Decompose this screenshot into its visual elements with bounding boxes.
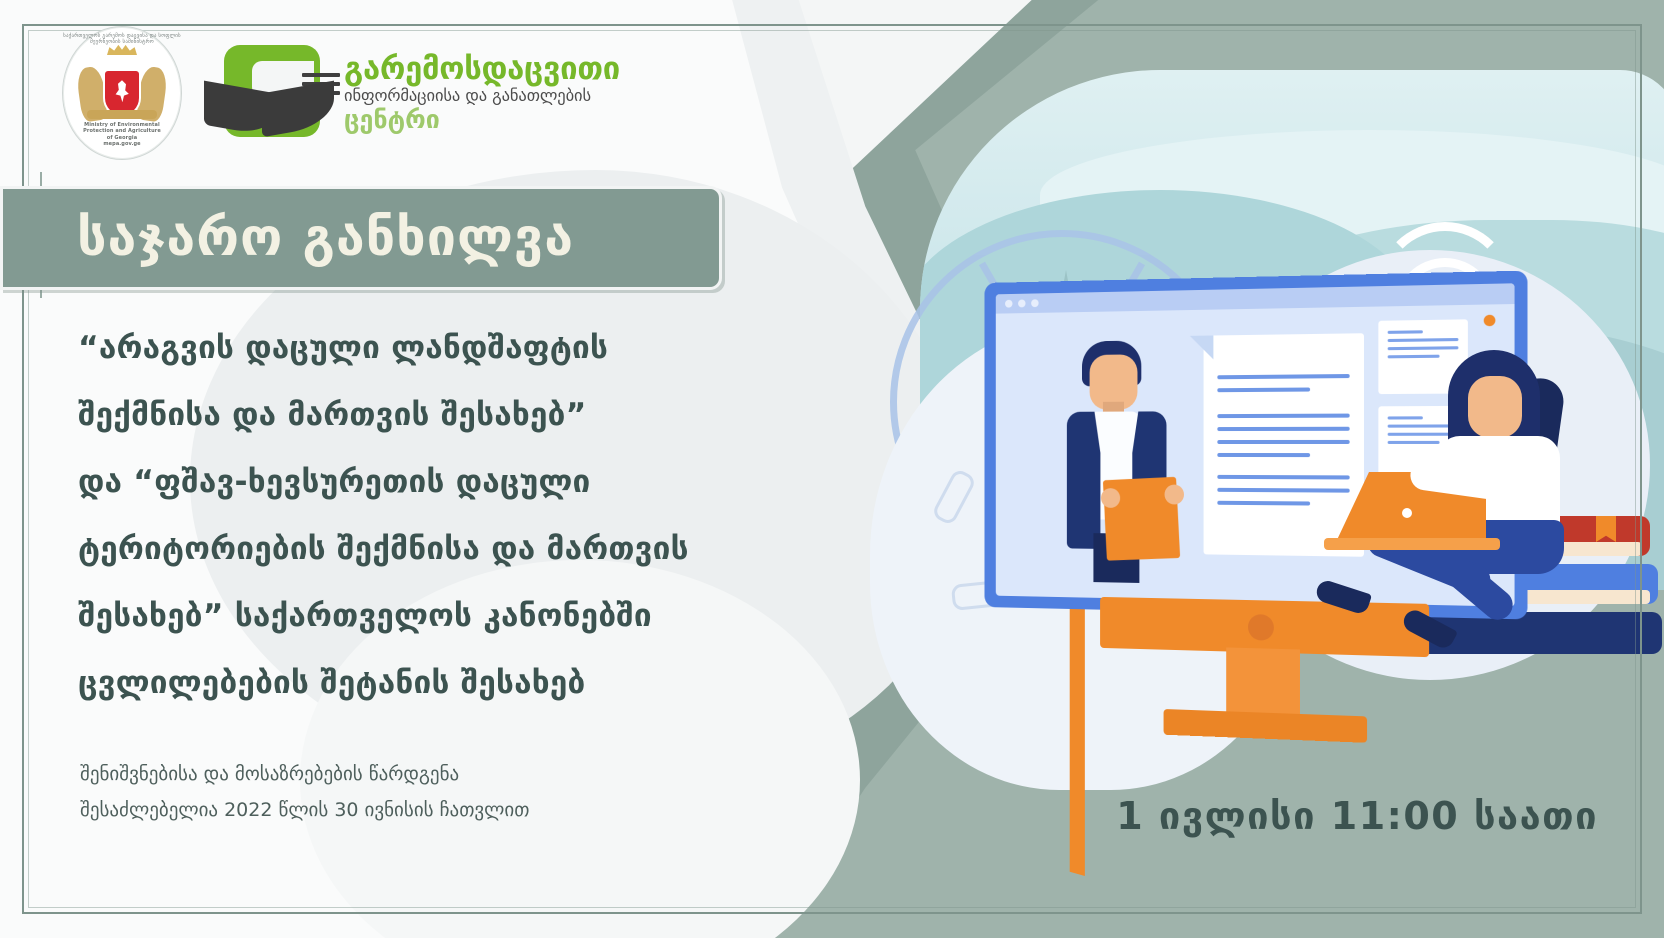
title-banner: საჯარო განხილვა — [0, 186, 722, 290]
center-logo: გარემოსდაცვითი ინფორმაციისა და განათლები… — [224, 45, 620, 141]
center-logo-line-3: ცენტრი — [344, 107, 620, 132]
man-with-folder — [1061, 340, 1186, 568]
emblem-arc-text: საქართველოს გარემოს დაცვისა და სოფლის მე… — [63, 33, 181, 45]
note-line: შენიშვნებისა და მოსაზრებების წარდგენა — [80, 756, 720, 792]
ribbon-icon — [87, 110, 157, 119]
woman-with-laptop — [1420, 350, 1640, 590]
poster-canvas: საქართველოს გარემოს დაცვისა და სოფლის მე… — [0, 0, 1664, 938]
note-line: შესაძლებელია 2022 წლის 30 ივნისის ჩათვლი… — [80, 792, 720, 828]
page-title: საჯარო განხილვა — [3, 208, 574, 268]
record-dot-icon — [1484, 315, 1496, 327]
emblem-en-line-4: mepa.gov.ge — [63, 141, 181, 147]
body-text: “არაგვის დაცული ლანდშაფტის შექმნისა და მ… — [78, 315, 738, 717]
body-line: შექმნისა და მართვის შესახებ” — [78, 382, 738, 449]
logo-row: საქართველოს გარემოს დაცვისა და სოფლის მე… — [62, 26, 620, 160]
submission-note: შენიშვნებისა და მოსაზრებების წარდგენა შე… — [80, 756, 720, 828]
body-line: “არაგვის დაცული ლანდშაფტის — [78, 315, 738, 382]
body-line: და “ფშავ-ხევსურეთის დაცული — [78, 449, 738, 516]
emblem-english-text: Ministry of Environmental Protection and… — [63, 122, 181, 147]
monitor-side — [1070, 561, 1085, 876]
georgia-shield-icon — [105, 71, 139, 115]
document-main — [1204, 333, 1364, 557]
title-banner-wrap: საჯარო განხილვა — [0, 186, 722, 290]
center-logo-line-2: ინფორმაციისა და განათლების — [344, 88, 620, 105]
body-line: ცვლილებების შეტანის შესახებ — [78, 650, 738, 717]
event-datetime: 1 ივლისი 11:00 საათი — [1116, 794, 1598, 838]
center-logo-line-1: გარემოსდაცვითი — [344, 54, 620, 85]
body-line: შესახებ” საქართველოს კანონებში — [78, 583, 738, 650]
center-logo-text: გარემოსდაცვითი ინფორმაციისა და განათლები… — [344, 54, 620, 132]
body-line: ტერიტორიების შექმნისა და მართვის — [78, 516, 738, 583]
illustration — [880, 0, 1664, 880]
ministry-emblem: საქართველოს გარემოს დაცვისა და სოფლის მე… — [62, 26, 182, 160]
center-logo-mark-icon — [224, 45, 332, 141]
